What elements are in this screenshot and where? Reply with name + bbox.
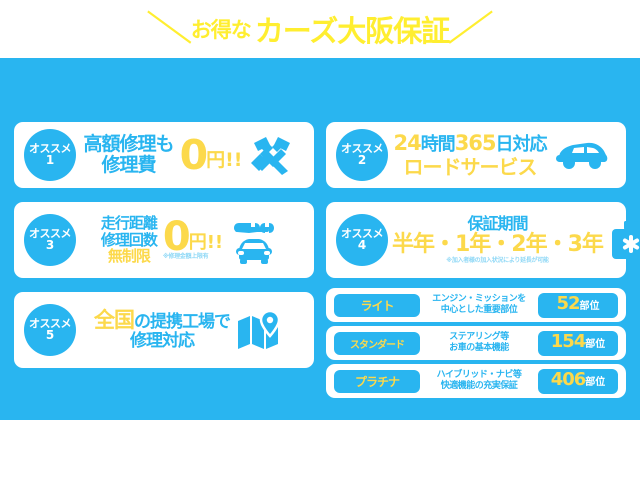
card5-line1-rest: の提携工場で xyxy=(134,312,230,332)
card5-highlight: 全国 xyxy=(94,308,134,332)
card2-hours-number: 24 xyxy=(393,131,420,155)
card4-line2: 半年・1年・2年・3年 xyxy=(392,233,603,258)
badge-number: 5 xyxy=(46,329,54,342)
plan-desc-line1: ステアリング等 xyxy=(449,332,509,343)
plan-name-pill: プラチナ xyxy=(334,370,420,393)
card5-line1: 全国の提携工場で xyxy=(94,309,230,333)
plan-desc-line2: お車の基本機能 xyxy=(449,343,509,354)
card1-line2: 修理費 xyxy=(102,155,156,176)
card1-amount: 0 xyxy=(180,138,207,173)
card2-line2: ロードサービス xyxy=(403,156,536,178)
recommend-badge-3: オススメ 3 xyxy=(24,214,76,266)
plan-name-pill: スタンダード xyxy=(334,332,420,355)
plan-desc-line1: エンジン・ミッションを xyxy=(432,294,526,305)
benefit-card-2: オススメ 2 24時間365日対応 ロードサービス xyxy=(326,122,626,188)
plan-count-number: 406 xyxy=(551,369,586,390)
hammer-chisel-icon xyxy=(248,133,294,177)
advertisement-canvas: ＼ お得な カーズ大阪保証 ／ オススメ 1 高額修理も 修理費 0 円!! xyxy=(0,0,640,480)
card4-line1: 保証期間 xyxy=(467,215,527,233)
card2-hours-word: 時間 xyxy=(421,134,455,155)
plan-count-pill: 406 部位 xyxy=(538,369,618,394)
plan-count-number: 52 xyxy=(556,293,579,314)
toolbox-asterisk-icon xyxy=(609,219,640,261)
recommend-badge-5: オススメ 5 xyxy=(24,304,76,356)
card1-amount-unit: 円!! xyxy=(206,145,242,172)
plan-name-pill: ライト xyxy=(334,294,420,317)
badge-number: 2 xyxy=(358,154,366,167)
plan-count-pill: 154 部位 xyxy=(538,331,618,356)
slash-left-decoration: ＼ xyxy=(147,12,193,46)
plan-count-unit: 部位 xyxy=(585,335,605,350)
badge-number: 4 xyxy=(358,239,366,252)
benefit-card-1: オススメ 1 高額修理も 修理費 0 円!! xyxy=(14,122,314,188)
plan-count-unit: 部位 xyxy=(585,373,605,388)
plan-row[interactable]: ライト エンジン・ミッションを 中心とした重要部位 52 部位 xyxy=(326,288,626,322)
badge-number: 1 xyxy=(46,154,54,167)
plan-description: ステアリング等 お車の基本機能 xyxy=(420,332,538,355)
card5-line2: 修理対応 xyxy=(130,332,194,351)
map-pin-icon xyxy=(236,309,284,351)
benefit-card-3: オススメ 3 走行距離 修理回数 無制限 0 円!! ※修理金額上限有 xyxy=(14,202,314,278)
card4-note: ※加入者様の加入状況により延長が可能 xyxy=(446,258,548,265)
recommend-badge-4: オススメ 4 xyxy=(336,214,388,266)
plan-count-unit: 部位 xyxy=(580,297,600,312)
card3-amount: 0 xyxy=(163,220,189,254)
benefit-card-5: オススメ 5 全国の提携工場で 修理対応 xyxy=(14,292,314,368)
card3-amount-unit: 円!! xyxy=(189,233,223,253)
recommend-badge-2: オススメ 2 xyxy=(336,129,388,181)
card3-line3: 無制限 xyxy=(108,248,150,265)
badge-number: 3 xyxy=(46,239,54,252)
card2-line1: 24時間365日対応 xyxy=(393,132,546,156)
benefit-card-4: オススメ 4 保証期間 半年・1年・2年・3年 ※加入者様の加入状況により延長が… xyxy=(326,202,626,278)
plan-description: エンジン・ミッションを 中心とした重要部位 xyxy=(420,294,538,317)
slash-right-decoration: ／ xyxy=(447,12,493,46)
card3-line2: 修理回数 xyxy=(101,232,157,249)
card1-line1: 高額修理も xyxy=(84,134,174,155)
card3-note: ※修理金額上限有 xyxy=(163,254,208,261)
plan-desc-line1: ハイブリッド・ナビ等 xyxy=(437,370,522,381)
header-subtitle: お得な xyxy=(191,14,251,44)
plan-row[interactable]: スタンダード ステアリング等 お車の基本機能 154 部位 xyxy=(326,326,626,360)
plan-description: ハイブリッド・ナビ等 快適機能の充実保証 xyxy=(420,370,538,393)
card3-line1: 走行距離 xyxy=(101,215,157,232)
plan-count-pill: 52 部位 xyxy=(538,293,618,318)
header-title: カーズ大阪保証 xyxy=(255,8,450,50)
plan-desc-line2: 快適機能の充実保証 xyxy=(441,381,518,392)
plan-desc-line2: 中心とした重要部位 xyxy=(441,305,518,316)
car-wrench-icon xyxy=(229,215,277,265)
header: ＼ お得な カーズ大阪保証 ／ xyxy=(0,0,640,58)
card2-days-number: 365 xyxy=(455,131,496,155)
car-side-icon xyxy=(553,138,609,172)
card2-days-word: 日対応 xyxy=(496,134,547,155)
plan-count-number: 154 xyxy=(551,331,586,352)
recommend-badge-1: オススメ 1 xyxy=(24,129,76,181)
plan-row[interactable]: プラチナ ハイブリッド・ナビ等 快適機能の充実保証 406 部位 xyxy=(326,364,626,398)
